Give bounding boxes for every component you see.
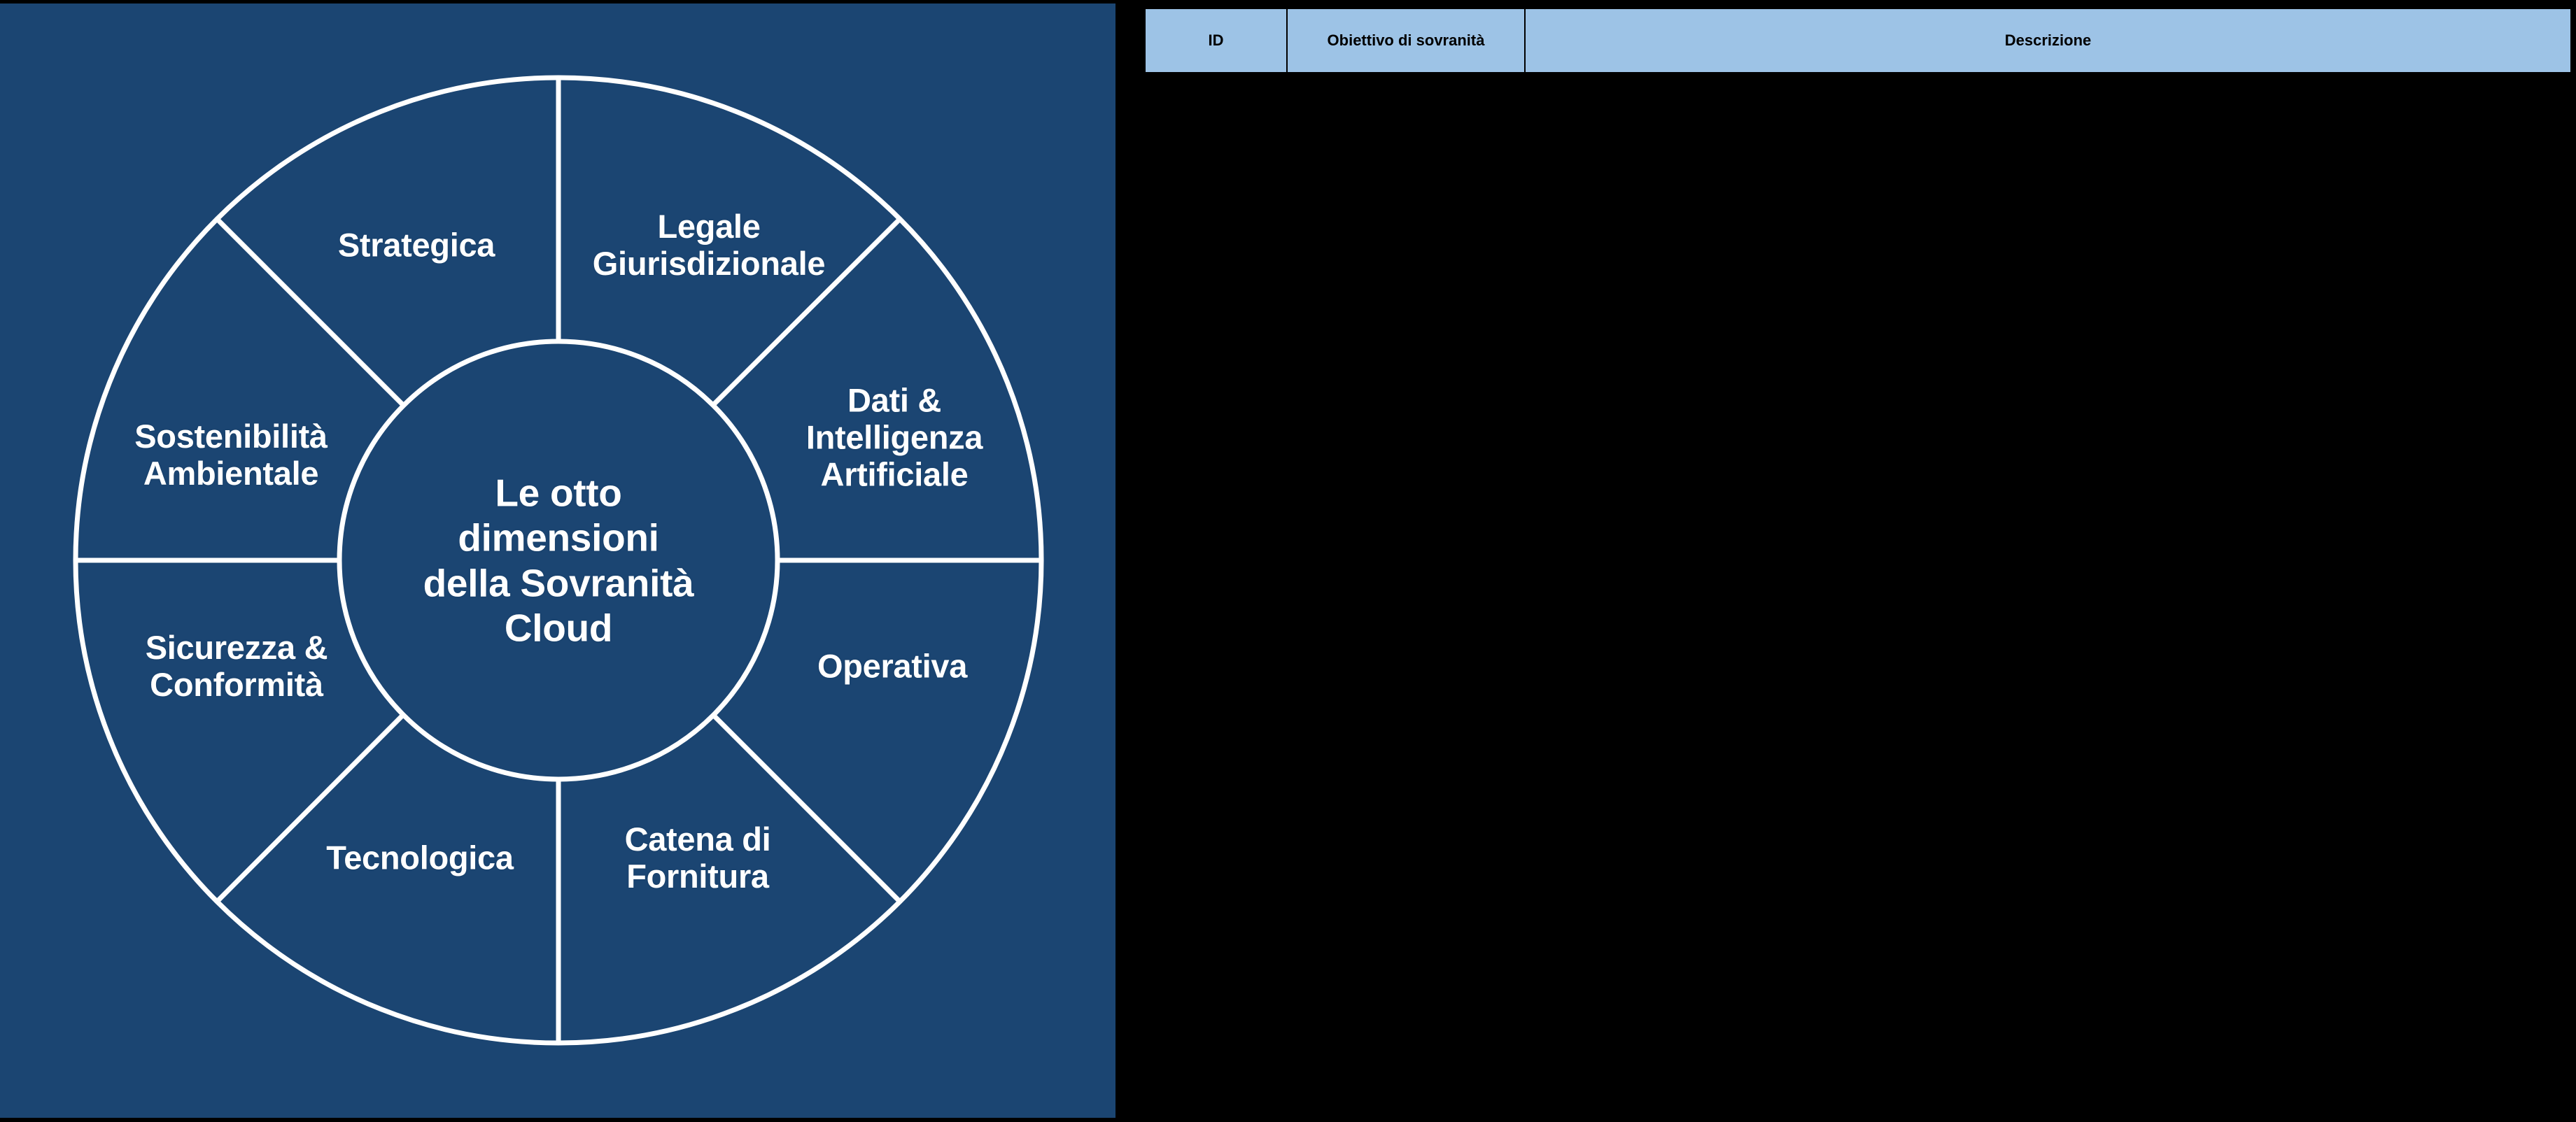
table-header-objective: Obiettivo di sovranità [1287,8,1525,73]
wheel-spoke-lower-right [713,715,900,902]
table-header-row: ID Obiettivo di sovranità Descrizione [1145,8,2571,73]
wheel-spoke-lower-left [217,715,403,902]
table-header-description: Descrizione [1525,8,2571,73]
sovereignty-wheel-panel: Le otto dimensioni della Sovranità Cloud… [0,3,1115,1118]
sovereignty-objectives-table: ID Obiettivo di sovranità Descrizione [1144,8,2572,73]
sovereignty-wheel-diagram [0,0,1115,1122]
wheel-spoke-upper-right [713,219,900,405]
wheel-inner-circle [339,341,777,779]
table-header-id: ID [1145,8,1287,73]
wheel-spoke-upper-left [217,219,403,405]
